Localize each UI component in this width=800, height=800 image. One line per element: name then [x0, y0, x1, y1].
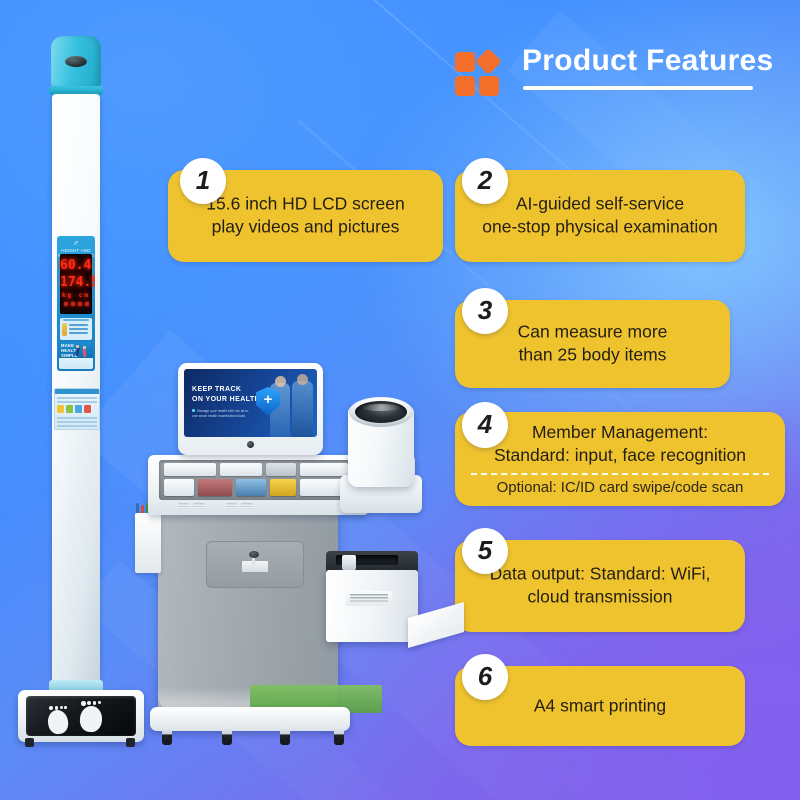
platform-glass: [26, 696, 136, 736]
weighing-platform: [18, 690, 148, 760]
header: Product Features: [455, 44, 785, 110]
footprint-toes-icon: [81, 701, 101, 706]
ultrasonic-sensor-head: [51, 36, 101, 88]
printer-button[interactable]: [342, 555, 356, 570]
footprint-icon: [79, 705, 103, 733]
printer-label: [346, 591, 392, 606]
side-accessory-holder: [135, 513, 161, 573]
control-deck: [148, 455, 368, 515]
instruction-sticker: [60, 318, 92, 340]
slogan-artwork: MAKE HEALTH SIMPLE: [59, 342, 93, 369]
feature-badge-5: 5: [462, 528, 508, 574]
instrument-module[interactable]: [164, 463, 216, 476]
caster-wheel: [222, 727, 232, 745]
a4-printer: [326, 570, 418, 642]
spec-label-sticker: [54, 388, 100, 430]
led-weight-value: 60.4: [60, 258, 90, 273]
screen-headline: KEEP TRACK ON YOUR HEALTH: [192, 385, 260, 405]
title-underline: [523, 86, 753, 90]
color-chips: [57, 405, 91, 413]
feature-badge-6-number: 6: [478, 663, 492, 689]
cuff-arm-opening: [355, 401, 407, 423]
instrument-module[interactable]: [198, 479, 232, 496]
instrument-tray: [159, 460, 353, 500]
card-divider: [471, 473, 769, 475]
instrument-module[interactable]: [266, 463, 296, 476]
led-unit-row: kg cm: [60, 292, 90, 299]
page-title: Product Features: [522, 44, 774, 78]
feature-badge-1: 1: [180, 158, 226, 204]
instrument-module[interactable]: [220, 463, 262, 476]
cabinet-icon: [242, 553, 268, 573]
feature-card-4-subtext: Optional: IC/ID card swipe/code scan: [455, 479, 785, 498]
camera-icon: [247, 441, 254, 448]
feature-badge-6: 6: [462, 654, 508, 700]
vent-grille: [193, 503, 204, 509]
feature-badge-4: 4: [462, 402, 508, 448]
feature-badge-5-number: 5: [478, 537, 492, 563]
caster-wheel: [334, 727, 344, 745]
caster-wheel: [162, 727, 172, 745]
instrument-module[interactable]: [300, 463, 348, 476]
vent-grille: [241, 503, 252, 509]
led-screen: 60.4 174.5 kg cm: [60, 254, 92, 314]
sensor-lens-icon: [65, 56, 87, 67]
brand-mark-icon: ♂: [57, 239, 95, 248]
instrument-module[interactable]: [270, 479, 296, 496]
footprint-icon: [46, 709, 70, 736]
vent-grille: [178, 503, 189, 509]
lcd-screen[interactable]: KEEP TRACK ON YOUR HEALTH Manage your he…: [184, 369, 317, 437]
platform-foot: [25, 738, 34, 747]
kiosk-base-plate: [150, 707, 350, 731]
feature-badge-3-number: 3: [478, 297, 492, 323]
person-graphic: [292, 381, 313, 437]
feature-badge-4-number: 4: [478, 411, 492, 437]
led-height-value: 174.5: [60, 275, 90, 290]
feature-card-2-text: AI-guided self-service one-stop physical…: [455, 193, 745, 240]
feature-badge-1-number: 1: [196, 167, 210, 193]
instrument-module[interactable]: [164, 479, 194, 496]
health-kiosk-unit: KEEP TRACK ON YOUR HEALTH Manage your he…: [130, 355, 470, 775]
product-feature-poster: Product Features 15.6 inch HD LCD screen…: [0, 0, 800, 800]
footprint-toes-icon: [49, 706, 67, 710]
screen-subtext: Manage your health with our all-in-one s…: [192, 409, 250, 419]
feature-card-5-text: Data output: Standard: WiFi, cloud trans…: [455, 563, 745, 610]
caster-wheel: [280, 727, 290, 745]
vent-grille: [226, 503, 237, 509]
feature-badge-2-number: 2: [478, 167, 492, 193]
lower-cabinet: [158, 513, 338, 713]
led-display-panel: ♂ HEIGHT AND WEIGHT SCALE 60.4 174.5 kg …: [57, 236, 95, 371]
four-squares-logo-icon: [455, 50, 503, 98]
led-indicator-dots: [64, 302, 89, 306]
feature-badge-2: 2: [462, 158, 508, 204]
person-head-graphic: [297, 374, 308, 385]
person-head-graphic: [275, 376, 286, 387]
monitor-shell: KEEP TRACK ON YOUR HEALTH Manage your he…: [178, 363, 323, 455]
instrument-module[interactable]: [236, 479, 266, 496]
feature-badge-3: 3: [462, 288, 508, 334]
feature-card-6-text: A4 smart printing: [455, 694, 745, 717]
height-measuring-column: ♂ HEIGHT AND WEIGHT SCALE 60.4 174.5 kg …: [38, 36, 118, 736]
